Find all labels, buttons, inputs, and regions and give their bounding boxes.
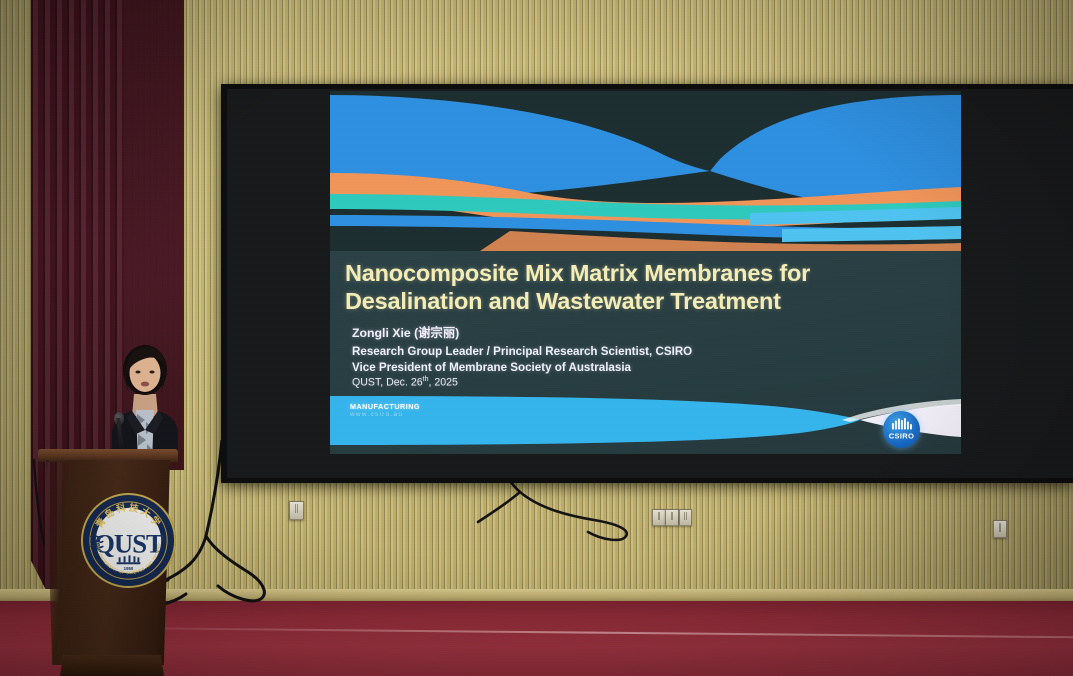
slide-title-line-1: Nanocomposite Mix Matrix Membranes for <box>345 259 945 287</box>
csiro-ribbon-graphic <box>330 91 961 251</box>
slide-author: Zongli Xie (谢宗丽) <box>352 327 952 340</box>
qust-emblem: QUST 1950 青岛科技大学 QINGDAO UNIVERSITY OF S… <box>79 491 178 590</box>
csiro-logo: CSIRO <box>883 411 920 448</box>
slide-role-line-2: Vice President of Membrane Society of Au… <box>352 360 952 376</box>
slide-role: Research Group Leader / Principal Resear… <box>352 344 952 376</box>
podium-base <box>60 655 164 676</box>
slide-footer-label: MANUFACTURING <box>350 402 420 411</box>
slide-date-prefix: QUST, Dec. 26 <box>352 377 423 389</box>
slide-date: QUST, Dec. 26th, 2025 <box>352 376 458 389</box>
slide-footer-band <box>330 391 961 454</box>
slide-title-line-2: Desalination and Wastewater Treatment <box>345 287 945 315</box>
slide-title: Nanocomposite Mix Matrix Membranes for D… <box>345 259 945 316</box>
presentation-photo: Nanocomposite Mix Matrix Membranes for D… <box>0 0 1073 676</box>
wall-outlet <box>993 520 1007 538</box>
svg-text:CSIRO: CSIRO <box>889 431 915 440</box>
presentation-slide: Nanocomposite Mix Matrix Membranes for D… <box>330 91 961 454</box>
slide-date-suffix: , 2025 <box>429 377 458 389</box>
slide-role-line-1: Research Group Leader / Principal Resear… <box>352 344 952 360</box>
slide-footer-url: www.csiro.au <box>350 411 403 418</box>
svg-text:QUST: QUST <box>94 528 164 558</box>
speaker-person <box>96 342 194 462</box>
